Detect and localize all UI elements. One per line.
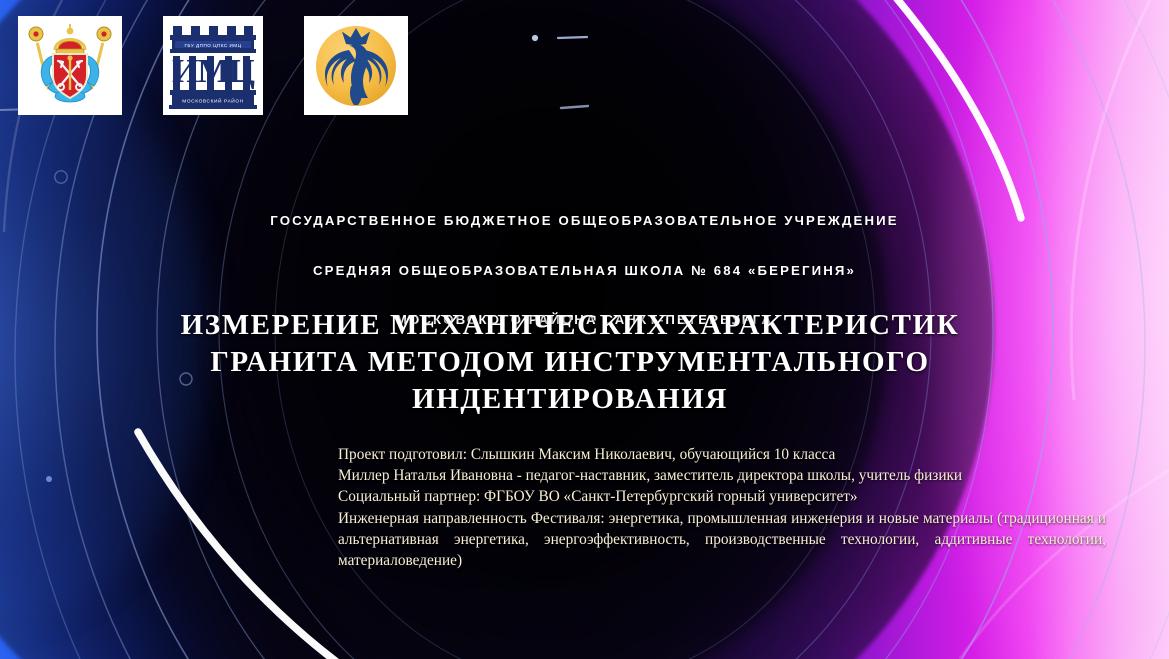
credit-partner: Социальный партнер: ФГБОУ ВО «Санкт-Пете… <box>338 486 1106 507</box>
imc-moskovsky-district-logo: ИМЦ ГБУ ДППО ЦПКС ИМЦ МОСКОВСКИЙ РАЙОН <box>163 16 263 115</box>
credits-block: Проект подготовил: Слышкин Максим Никола… <box>338 444 1106 571</box>
org-heading-line-2: СРЕДНЯЯ ОБЩЕОБРАЗОВАТЕЛЬНАЯ ШКОЛА № 684 … <box>0 263 1169 280</box>
title-line-1: ИЗМЕРЕНИЕ МЕХАНИЧЕСКИХ ХАРАКТЕРИСТИК <box>90 307 1050 344</box>
imperial-crown-icon <box>55 24 85 54</box>
title-line-3: ИНДЕНТИРОВАНИЯ <box>90 381 1050 418</box>
page-title: ИЗМЕРЕНИЕ МЕХАНИЧЕСКИХ ХАРАКТЕРИСТИК ГРА… <box>90 307 1050 418</box>
presentation-slide: ИМЦ ГБУ ДППО ЦПКС ИМЦ МОСКОВСКИЙ РАЙОН <box>0 0 1169 659</box>
imc-top-text: ГБУ ДППО ЦПКС ИМЦ <box>184 43 241 48</box>
logo-row: ИМЦ ГБУ ДППО ЦПКС ИМЦ МОСКОВСКИЙ РАЙОН <box>18 16 408 115</box>
title-line-2: ГРАНИТА МЕТОДОМ ИНСТРУМЕНТАЛЬНОГО <box>90 344 1050 381</box>
spb-coat-of-arms-logo <box>18 16 122 115</box>
org-heading-line-1: ГОСУДАРСТВЕННОЕ БЮДЖЕТНОЕ ОБЩЕОБРАЗОВАТЕ… <box>0 213 1169 230</box>
credit-mentor: Миллер Наталья Ивановна - педагог-настав… <box>338 465 1106 486</box>
firebird-festival-logo <box>304 16 408 115</box>
credit-festival-focus: Инженерная направленность Фестиваля: эне… <box>338 508 1106 572</box>
credit-author: Проект подготовил: Слышкин Максим Никола… <box>338 444 1106 465</box>
